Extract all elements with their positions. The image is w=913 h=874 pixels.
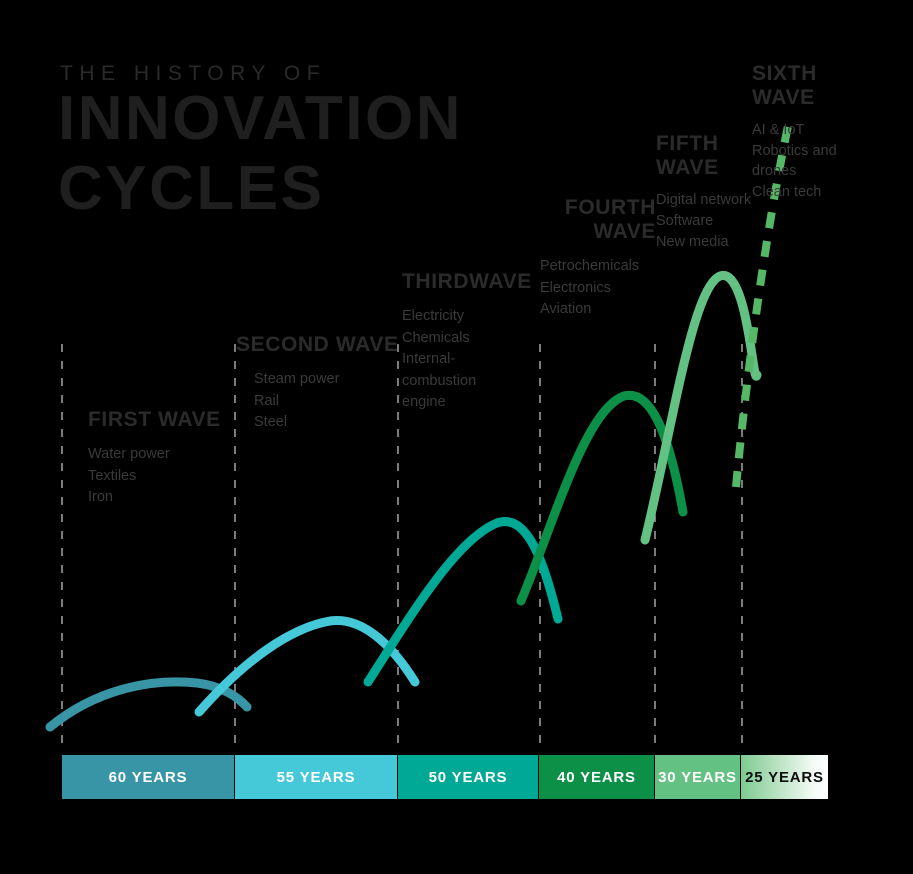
wave-items-second: Steam power Rail Steel [254, 369, 399, 434]
infographic-canvas: THE HISTORY OF INNOVATION CYCLES FIRST W… [0, 0, 913, 874]
wave-item: Petrochemicals [540, 256, 656, 278]
wave-item: Software [656, 211, 762, 232]
wave-heading-fifth: FIFTH WAVE [656, 132, 762, 180]
duration-segment-40-years[interactable]: 40 YEARS [539, 755, 655, 799]
wave-item: Electronics [540, 278, 656, 300]
wave-heading-third: THIRDWAVE [402, 270, 532, 294]
wave-item: engine [402, 392, 532, 414]
wave-curve-fifth [645, 275, 757, 540]
page-title-line1: INNOVATION [58, 88, 463, 150]
wave-label-second: SECOND WAVE Steam power Rail Steel [236, 333, 399, 434]
duration-segment-55-years[interactable]: 55 YEARS [235, 755, 398, 799]
wave-item: Steam power [254, 369, 399, 391]
wave-item: Chemicals [402, 328, 532, 350]
wave-label-fifth: FIFTH WAVE Digital network Software New … [656, 132, 762, 253]
wave-heading-fourth: FOURTH WAVE [540, 196, 656, 244]
wave-items-third: Electricity Chemicals Internal- combusti… [402, 306, 532, 414]
wave-items-fourth: Petrochemicals Electronics Aviation [540, 256, 656, 321]
duration-segment-25-years[interactable]: 25 YEARS [741, 755, 828, 799]
duration-segment-60-years[interactable]: 60 YEARS [62, 755, 235, 799]
wave-label-third: THIRDWAVE Electricity Chemicals Internal… [402, 270, 532, 414]
wave-item: AI & IoT [752, 120, 872, 141]
wave-label-first: FIRST WAVE Water power Textiles Iron [88, 408, 221, 509]
wave-item: New media [656, 232, 762, 253]
wave-items-fifth: Digital network Software New media [656, 190, 762, 253]
wave-item: Steel [254, 412, 399, 434]
wave-item: Textiles [88, 466, 221, 488]
duration-segment-50-years[interactable]: 50 YEARS [398, 755, 539, 799]
duration-segment-30-years[interactable]: 30 YEARS [655, 755, 741, 799]
duration-bar: 60 YEARS 55 YEARS 50 YEARS 40 YEARS 30 Y… [62, 755, 828, 799]
wave-item: Iron [88, 487, 221, 509]
wave-item: Rail [254, 391, 399, 413]
wave-items-first: Water power Textiles Iron [88, 444, 221, 509]
wave-item: Internal- [402, 349, 532, 371]
wave-label-fourth: FOURTH WAVE Petrochemicals Electronics A… [540, 196, 656, 321]
wave-item: Water power [88, 444, 221, 466]
wave-item: combustion [402, 371, 532, 393]
wave-item: drones [752, 161, 872, 182]
wave-item: Clean tech [752, 182, 872, 203]
wave-heading-sixth: SIXTH WAVE [752, 62, 872, 110]
wave-label-sixth: SIXTH WAVE AI & IoT Robotics and drones … [752, 62, 872, 202]
wave-item: Digital network [656, 190, 762, 211]
wave-items-sixth: AI & IoT Robotics and drones Clean tech [752, 120, 872, 202]
wave-item: Robotics and [752, 141, 872, 162]
wave-item: Aviation [540, 299, 656, 321]
wave-item: Electricity [402, 306, 532, 328]
wave-heading-second: SECOND WAVE [236, 333, 399, 357]
page-title-line2: CYCLES [58, 158, 324, 220]
wave-heading-first: FIRST WAVE [88, 408, 221, 432]
page-kicker: THE HISTORY OF [60, 62, 326, 86]
